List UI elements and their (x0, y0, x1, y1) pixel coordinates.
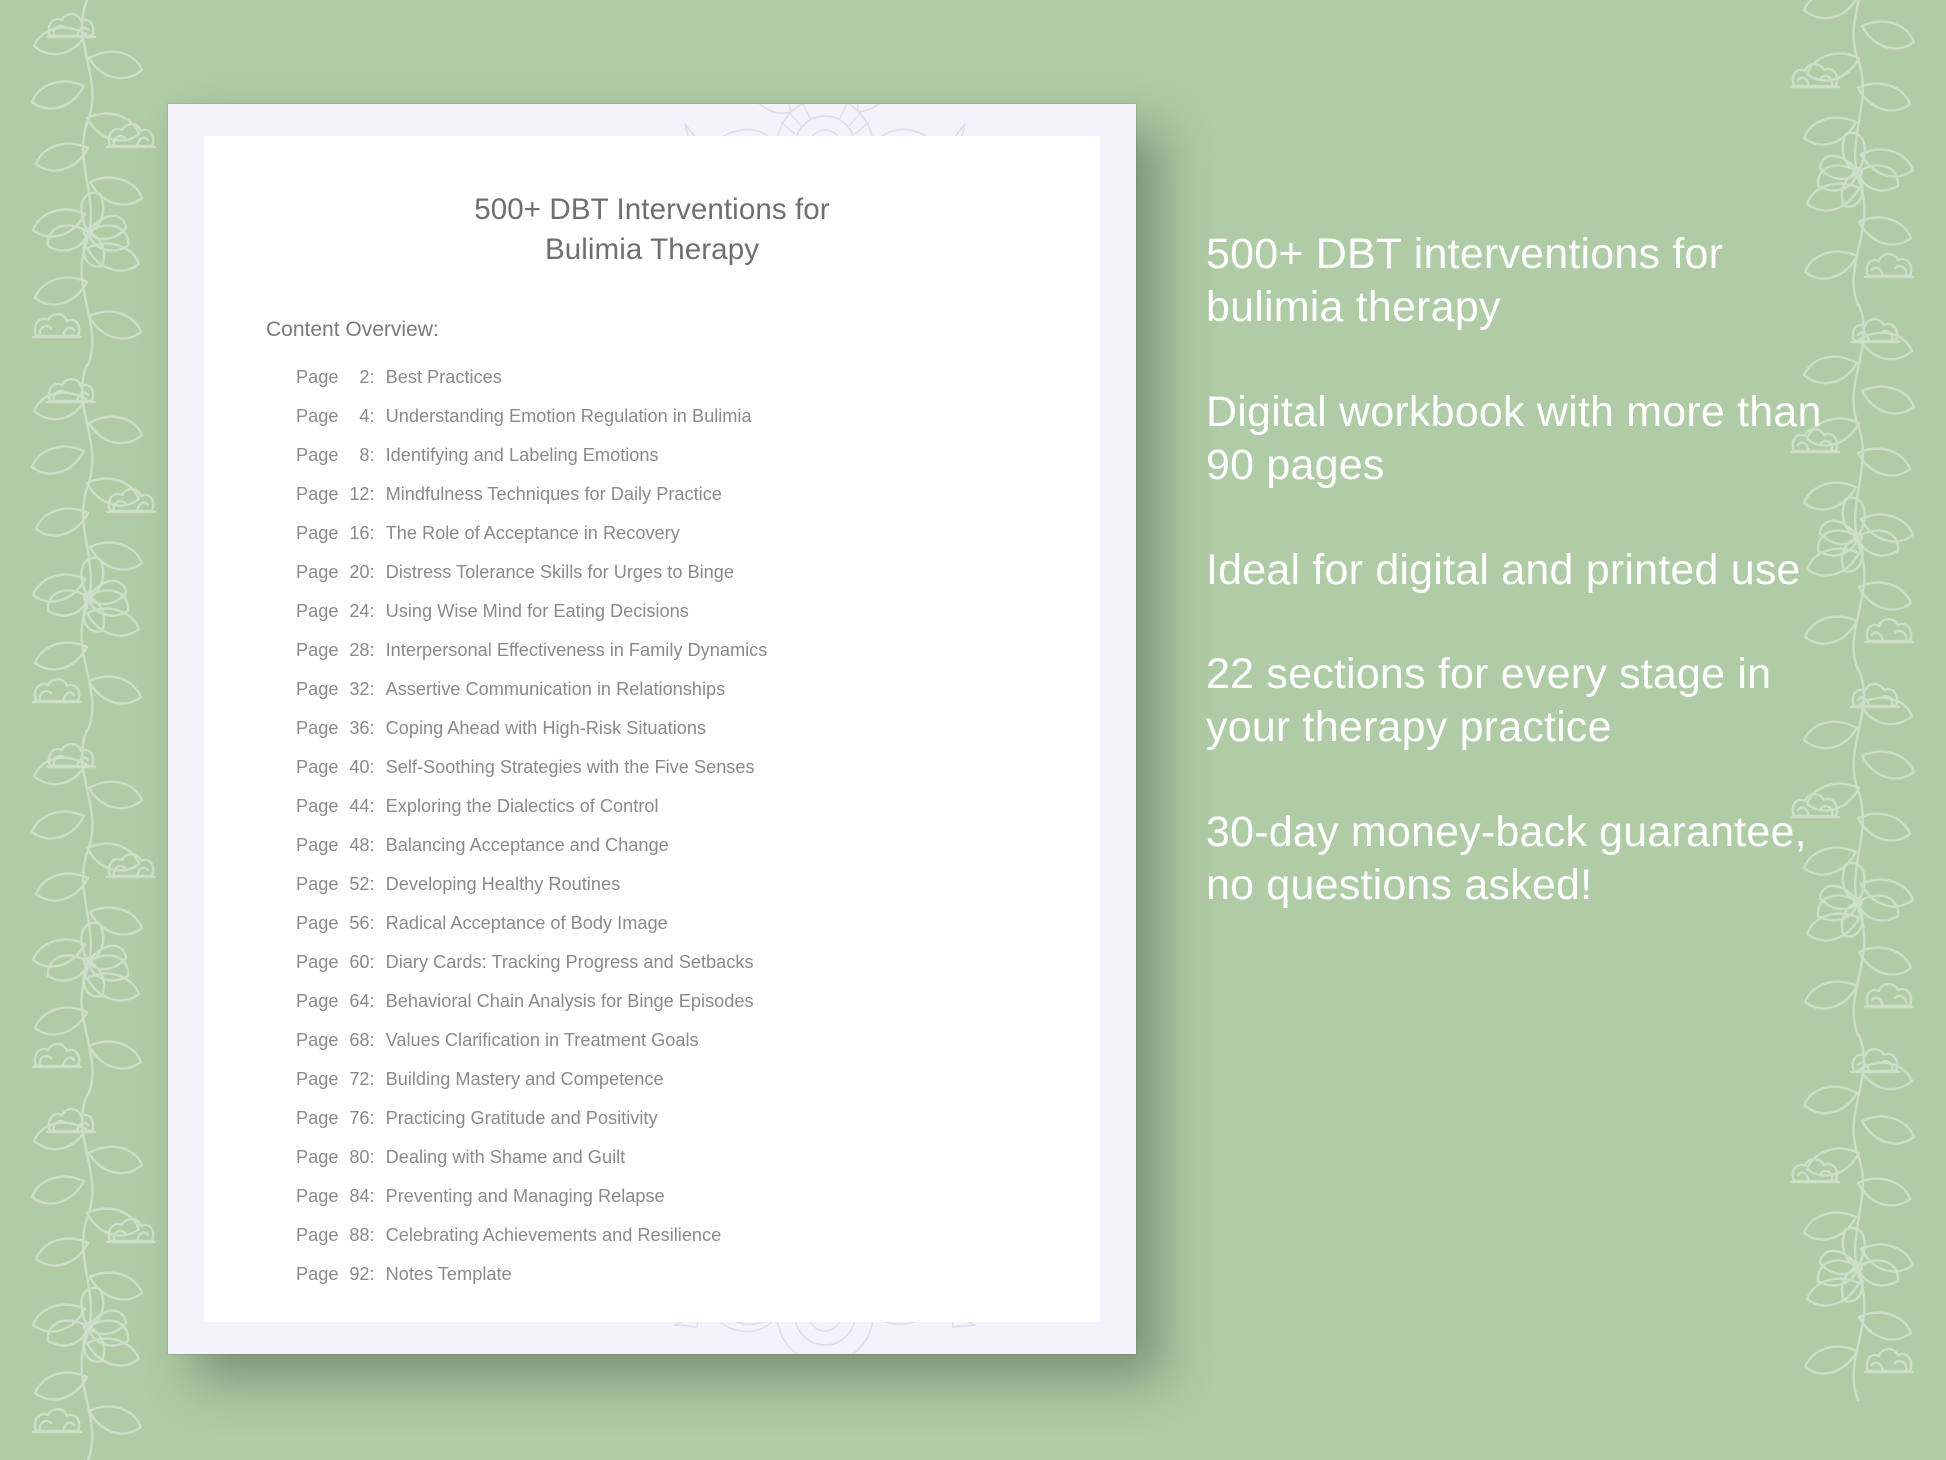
toc-colon: : (370, 601, 386, 621)
document-page: 500+ DBT Interventions for Bulimia Thera… (204, 136, 1100, 1322)
toc-entry: Page 24:Using Wise Mind for Eating Decis… (296, 601, 1100, 640)
toc-colon: : (370, 1225, 386, 1245)
toc-page-word: Page (296, 952, 338, 972)
toc-page-number: 28 (344, 640, 370, 661)
toc-page-word: Page (296, 991, 338, 1011)
toc-entry-title: Building Mastery and Competence (386, 1069, 664, 1090)
toc-page-number: 2 (344, 367, 370, 388)
toc-entry: Page 92:Notes Template (296, 1264, 1100, 1303)
toc-entry: Page 84:Preventing and Managing Relapse (296, 1186, 1100, 1225)
toc-entry-title: Coping Ahead with High-Risk Situations (386, 718, 706, 739)
toc-page-number: 8 (344, 445, 370, 466)
document-card: 500+ DBT Interventions for Bulimia Thera… (168, 104, 1136, 1354)
toc-page-number: 32 (344, 679, 370, 700)
toc-colon: : (370, 913, 386, 933)
toc-colon: : (370, 757, 386, 777)
toc-entry-title: Best Practices (386, 367, 502, 388)
toc-page-word: Page (296, 1147, 338, 1167)
toc-entry: Page 48:Balancing Acceptance and Change (296, 835, 1100, 874)
toc-entry-title: Diary Cards: Tracking Progress and Setba… (386, 952, 754, 973)
toc-colon: : (370, 445, 386, 465)
toc-page-number: 64 (344, 991, 370, 1012)
toc-page-label: Page 16: (296, 523, 386, 544)
toc-entry-title: Behavioral Chain Analysis for Binge Epis… (386, 991, 754, 1012)
toc-entry: Page 72:Building Mastery and Competence (296, 1069, 1100, 1108)
toc-page-label: Page 76: (296, 1108, 386, 1129)
toc-page-label: Page 64: (296, 991, 386, 1012)
toc-entry-title: Preventing and Managing Relapse (386, 1186, 665, 1207)
toc-entry-title: Practicing Gratitude and Positivity (386, 1108, 658, 1129)
toc-entry: Page 28:Interpersonal Effectiveness in F… (296, 640, 1100, 679)
toc-page-number: 52 (344, 874, 370, 895)
toc-page-word: Page (296, 718, 338, 738)
toc-page-label: Page 44: (296, 796, 386, 817)
toc-entry-title: Values Clarification in Treatment Goals (386, 1030, 699, 1051)
toc-colon: : (370, 484, 386, 504)
toc-page-number: 60 (344, 952, 370, 973)
toc-page-word: Page (296, 835, 338, 855)
toc-colon: : (370, 1069, 386, 1089)
toc-page-number: 40 (344, 757, 370, 778)
toc-page-label: Page 80: (296, 1147, 386, 1168)
toc-page-word: Page (296, 523, 338, 543)
toc-entry: Page 12:Mindfulness Techniques for Daily… (296, 484, 1100, 523)
toc-entry-title: Exploring the Dialectics of Control (386, 796, 659, 817)
toc-page-number: 72 (344, 1069, 370, 1090)
toc-colon: : (370, 1030, 386, 1050)
toc-page-number: 16 (344, 523, 370, 544)
toc-entry: Page 8:Identifying and Labeling Emotions (296, 445, 1100, 484)
toc-colon: : (370, 718, 386, 738)
toc-entry-title: Distress Tolerance Skills for Urges to B… (386, 562, 734, 583)
toc-page-word: Page (296, 367, 338, 387)
toc-entry-title: Using Wise Mind for Eating Decisions (386, 601, 689, 622)
toc-page-label: Page 36: (296, 718, 386, 739)
toc-page-label: Page 48: (296, 835, 386, 856)
page-title-line-2: Bulimia Therapy (274, 230, 1030, 270)
toc-entry-title: Notes Template (386, 1264, 512, 1285)
toc-colon: : (370, 952, 386, 972)
toc-page-word: Page (296, 1225, 338, 1245)
toc-entry: Page 36:Coping Ahead with High-Risk Situ… (296, 718, 1100, 757)
toc-entry-title: Developing Healthy Routines (386, 874, 621, 895)
toc-page-word: Page (296, 679, 338, 699)
toc-entry: Page 76:Practicing Gratitude and Positiv… (296, 1108, 1100, 1147)
toc-page-word: Page (296, 562, 338, 582)
toc-entry-title: Interpersonal Effectiveness in Family Dy… (386, 640, 768, 661)
toc-page-number: 48 (344, 835, 370, 856)
toc-page-label: Page 20: (296, 562, 386, 583)
toc-colon: : (370, 1108, 386, 1128)
promo-item: 30-day money-back guarantee, no question… (1206, 806, 1826, 912)
toc-page-word: Page (296, 601, 338, 621)
toc-entry-title: Dealing with Shame and Guilt (386, 1147, 626, 1168)
toc-entry: Page 68:Values Clarification in Treatmen… (296, 1030, 1100, 1069)
toc-entry-title: Celebrating Achievements and Resilience (386, 1225, 722, 1246)
toc-page-label: Page 92: (296, 1264, 386, 1285)
toc-page-label: Page 56: (296, 913, 386, 934)
toc-page-word: Page (296, 1030, 338, 1050)
toc-entry: Page 88:Celebrating Achievements and Res… (296, 1225, 1100, 1264)
toc-page-number: 20 (344, 562, 370, 583)
toc-entry: Page 60:Diary Cards: Tracking Progress a… (296, 952, 1100, 991)
toc-page-word: Page (296, 484, 338, 504)
promo-item: 22 sections for every stage in your ther… (1206, 648, 1826, 754)
toc-page-label: Page 52: (296, 874, 386, 895)
promo-item: 500+ DBT interventions for bulimia thera… (1206, 228, 1826, 334)
toc-entry-title: Understanding Emotion Regulation in Buli… (386, 406, 752, 427)
promo-list: 500+ DBT interventions for bulimia thera… (1206, 228, 1826, 912)
toc-page-label: Page 40: (296, 757, 386, 778)
toc-page-label: Page 24: (296, 601, 386, 622)
toc-page-label: Page 68: (296, 1030, 386, 1051)
toc-page-word: Page (296, 1186, 338, 1206)
toc-colon: : (370, 523, 386, 543)
toc-page-word: Page (296, 1108, 338, 1128)
toc-entry-title: Assertive Communication in Relationships (386, 679, 726, 700)
toc-page-number: 88 (344, 1225, 370, 1246)
toc-colon: : (370, 1147, 386, 1167)
toc-page-label: Page 84: (296, 1186, 386, 1207)
promo-item: Ideal for digital and printed use (1206, 544, 1826, 597)
toc-page-number: 92 (344, 1264, 370, 1285)
toc-colon: : (370, 991, 386, 1011)
floral-vine-icon (0, 0, 182, 1460)
toc-page-number: 84 (344, 1186, 370, 1207)
page-title: 500+ DBT Interventions for Bulimia Thera… (204, 190, 1100, 270)
toc-page-word: Page (296, 874, 338, 894)
toc-page-label: Page 12: (296, 484, 386, 505)
table-of-contents: Page 2:Best PracticesPage 4:Understandin… (296, 367, 1100, 1303)
toc-page-number: 68 (344, 1030, 370, 1051)
toc-entry: Page 20:Distress Tolerance Skills for Ur… (296, 562, 1100, 601)
toc-page-label: Page 28: (296, 640, 386, 661)
toc-entry-title: Identifying and Labeling Emotions (386, 445, 659, 466)
toc-page-label: Page 4: (296, 406, 386, 427)
toc-entry: Page 32:Assertive Communication in Relat… (296, 679, 1100, 718)
toc-entry-title: Radical Acceptance of Body Image (386, 913, 668, 934)
toc-colon: : (370, 1264, 386, 1284)
toc-entry: Page 2:Best Practices (296, 367, 1100, 406)
toc-page-number: 56 (344, 913, 370, 934)
toc-page-number: 36 (344, 718, 370, 739)
toc-entry-title: Self-Soothing Strategies with the Five S… (386, 757, 755, 778)
toc-page-label: Page 72: (296, 1069, 386, 1090)
toc-colon: : (370, 367, 386, 387)
toc-entry: Page 40:Self-Soothing Strategies with th… (296, 757, 1100, 796)
toc-colon: : (370, 406, 386, 426)
toc-entry: Page 64:Behavioral Chain Analysis for Bi… (296, 991, 1100, 1030)
toc-page-word: Page (296, 640, 338, 660)
toc-page-word: Page (296, 913, 338, 933)
toc-page-label: Page 2: (296, 367, 386, 388)
toc-entry: Page 4:Understanding Emotion Regulation … (296, 406, 1100, 445)
toc-page-number: 12 (344, 484, 370, 505)
toc-entry-title: The Role of Acceptance in Recovery (386, 523, 680, 544)
toc-page-number: 4 (344, 406, 370, 427)
toc-page-number: 76 (344, 1108, 370, 1129)
toc-colon: : (370, 796, 386, 816)
toc-page-word: Page (296, 757, 338, 777)
toc-entry: Page 80:Dealing with Shame and Guilt (296, 1147, 1100, 1186)
toc-page-word: Page (296, 796, 338, 816)
toc-colon: : (370, 835, 386, 855)
toc-page-word: Page (296, 406, 338, 426)
toc-page-word: Page (296, 1264, 338, 1284)
toc-colon: : (370, 640, 386, 660)
toc-entry: Page 44:Exploring the Dialectics of Cont… (296, 796, 1100, 835)
toc-page-word: Page (296, 1069, 338, 1089)
toc-colon: : (370, 1186, 386, 1206)
toc-entry: Page 52:Developing Healthy Routines (296, 874, 1100, 913)
toc-page-number: 80 (344, 1147, 370, 1168)
toc-entry-title: Mindfulness Techniques for Daily Practic… (386, 484, 722, 505)
toc-page-label: Page 32: (296, 679, 386, 700)
toc-colon: : (370, 562, 386, 582)
page-title-line-1: 500+ DBT Interventions for (274, 190, 1030, 230)
toc-page-number: 44 (344, 796, 370, 817)
toc-page-label: Page 8: (296, 445, 386, 466)
toc-colon: : (370, 679, 386, 699)
toc-entry: Page 56:Radical Acceptance of Body Image (296, 913, 1100, 952)
toc-entry-title: Balancing Acceptance and Change (386, 835, 669, 856)
toc-entry: Page 16:The Role of Acceptance in Recove… (296, 523, 1100, 562)
toc-colon: : (370, 874, 386, 894)
toc-page-label: Page 88: (296, 1225, 386, 1246)
toc-page-number: 24 (344, 601, 370, 622)
toc-page-word: Page (296, 445, 338, 465)
promo-item: Digital workbook with more than 90 pages (1206, 386, 1826, 492)
toc-page-label: Page 60: (296, 952, 386, 973)
content-overview-label: Content Overview: (266, 318, 1100, 342)
